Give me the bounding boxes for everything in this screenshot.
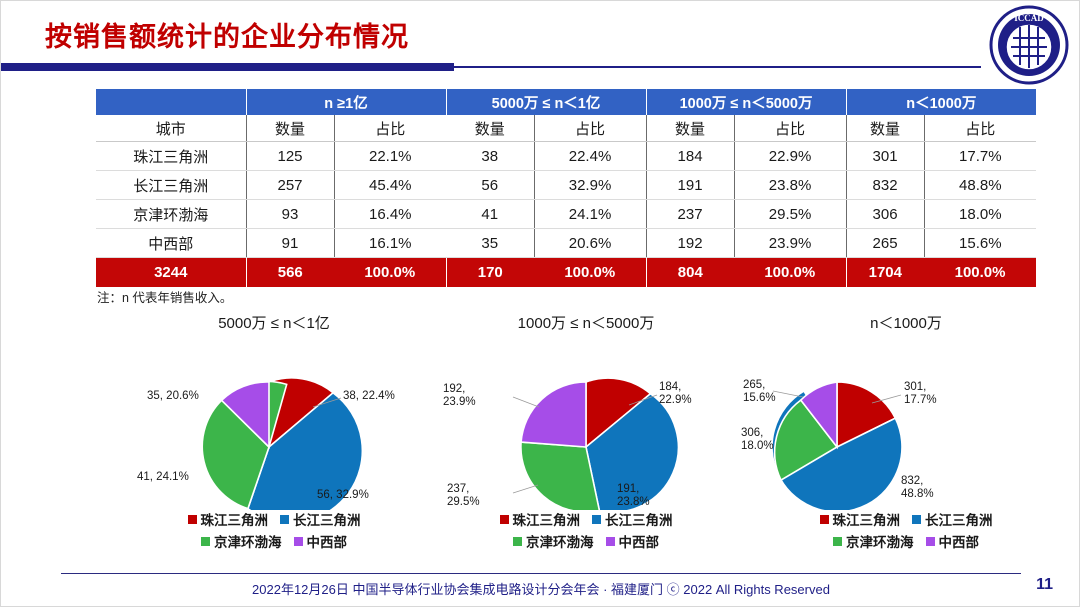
cell-share-2: 24.1% xyxy=(534,200,646,229)
group-header-1000w-5000w: 1000万 ≤ n＜5000万 xyxy=(646,89,846,115)
legend-label: 珠江三角洲 xyxy=(201,509,269,529)
table-total-row: 3244 566 100.0% 170 100.0% 804 100.0% 17… xyxy=(96,258,1036,288)
pie-area: 184, 22.9% 191, 23.8% 237, 29.5% 192, 23… xyxy=(421,335,751,510)
pie-label-zhongxibu: 192, 23.9% xyxy=(443,383,476,409)
pie-chart-5000w-1yi: 5000万 ≤ n＜1亿 38, 22.4% 56, 32.9% 41, 24.… xyxy=(109,313,439,573)
legend-swatch-purple xyxy=(606,537,615,546)
chart-legend: 珠江三角洲 长江三角洲 京津环渤海 中西部 xyxy=(741,509,1071,551)
pie-label-line1: 192, xyxy=(443,383,465,395)
legend-item-zhongxibu[interactable]: 中西部 xyxy=(294,531,348,551)
chart-legend: 珠江三角洲 长江三角洲 京津环渤海 中西部 xyxy=(109,509,439,551)
pie-label-zhujiang: 38, 22.4% xyxy=(343,390,395,403)
group-header-blank xyxy=(96,89,246,115)
legend-label: 中西部 xyxy=(307,531,348,551)
chart-title: 1000万 ≤ n＜5000万 xyxy=(421,313,751,335)
pie-chart-lt-1000w: n＜1000万 301, 17.7% 832, 48.8% xyxy=(741,313,1071,573)
pie-label-line1: 832, xyxy=(901,475,923,487)
cell-count-1: 125 xyxy=(246,142,334,171)
legend-swatch-purple xyxy=(926,537,935,546)
pie-slices xyxy=(521,378,678,510)
legend-label: 京津环渤海 xyxy=(526,531,594,551)
legend-item-changjiang[interactable]: 长江三角洲 xyxy=(280,509,361,529)
pie-label-line1: 191, xyxy=(617,483,639,495)
pie-label-line1: 301, xyxy=(904,381,926,393)
legend-item-zhongxibu[interactable]: 中西部 xyxy=(926,531,980,551)
group-header-lt-1000w: n＜1000万 xyxy=(846,89,1036,115)
pie-label-line1: 265, xyxy=(743,379,765,391)
pie-label-line1: 237, xyxy=(447,483,469,495)
legend-label: 长江三角洲 xyxy=(925,509,993,529)
legend-item-changjiang[interactable]: 长江三角洲 xyxy=(912,509,993,529)
legend-swatch-red xyxy=(500,515,509,524)
pie-label-changjiang: 56, 32.9% xyxy=(317,489,369,502)
cell-count-3: 192 xyxy=(646,229,734,258)
page-number: 11 xyxy=(1036,576,1053,594)
cell-share-4: 17.7% xyxy=(924,142,1036,171)
pie-label-zhujiang: 184, 22.9% xyxy=(659,381,692,407)
cell-share-3: 23.9% xyxy=(734,229,846,258)
table-sub-header-row: 城市 数量 占比 数量 占比 数量 占比 数量 占比 xyxy=(96,115,1036,142)
pie-slices xyxy=(772,382,902,510)
footer-divider xyxy=(61,573,1021,574)
pie-label-line1: 306, xyxy=(741,427,763,439)
cell-count-1: 93 xyxy=(246,200,334,229)
cell-count-1: 91 xyxy=(246,229,334,258)
pie-label-line2: 17.7% xyxy=(904,394,937,406)
pie-label-jingjin: 237, 29.5% xyxy=(447,483,480,509)
pie-label-line2: 15.6% xyxy=(743,392,776,404)
legend-swatch-purple xyxy=(294,537,303,546)
total-overall: 3244 xyxy=(96,258,246,288)
col-header-share-4: 占比 xyxy=(924,115,1036,142)
cell-city: 长江三角洲 xyxy=(96,171,246,200)
col-header-city: 城市 xyxy=(96,115,246,142)
group-header-5000w-1yi: 5000万 ≤ n＜1亿 xyxy=(446,89,646,115)
legend-item-changjiang[interactable]: 长江三角洲 xyxy=(592,509,673,529)
legend-label: 中西部 xyxy=(939,531,980,551)
legend-swatch-red xyxy=(188,515,197,524)
cell-share-3: 29.5% xyxy=(734,200,846,229)
cell-count-4: 265 xyxy=(846,229,924,258)
cell-count-3: 184 xyxy=(646,142,734,171)
pie-area: 301, 17.7% 832, 48.8% 306, 18.0% 265, 15… xyxy=(741,335,1071,510)
col-header-count-4: 数量 xyxy=(846,115,924,142)
enterprise-distribution-table: n ≥1亿 5000万 ≤ n＜1亿 1000万 ≤ n＜5000万 n＜100… xyxy=(96,89,986,287)
legend-label: 京津环渤海 xyxy=(846,531,914,551)
legend-item-jingjin[interactable]: 京津环渤海 xyxy=(513,531,594,551)
pie-label-line2: 48.8% xyxy=(901,488,934,500)
cell-share-3: 23.8% xyxy=(734,171,846,200)
table-group-header-row: n ≥1亿 5000万 ≤ n＜1亿 1000万 ≤ n＜5000万 n＜100… xyxy=(96,89,1036,115)
group-header-n-ge-1yi: n ≥1亿 xyxy=(246,89,446,115)
pie-label-zhujiang: 301, 17.7% xyxy=(904,381,937,407)
table-row: 京津环渤海 93 16.4% 41 24.1% 237 29.5% 306 18… xyxy=(96,200,1036,229)
pie-label-changjiang: 832, 48.8% xyxy=(901,475,934,501)
footer-text: 2022年12月26日 中国半导体行业协会集成电路设计分会年会 · 福建厦门 ⓒ… xyxy=(1,579,1080,598)
total-share-1: 100.0% xyxy=(334,258,446,288)
cell-share-4: 48.8% xyxy=(924,171,1036,200)
table-note: 注：n 代表年销售收入。 xyxy=(97,287,232,306)
cell-count-1: 257 xyxy=(246,171,334,200)
pie-label-line2: 18.0% xyxy=(741,440,774,452)
col-header-count-2: 数量 xyxy=(446,115,534,142)
cell-count-4: 306 xyxy=(846,200,924,229)
cell-count-3: 237 xyxy=(646,200,734,229)
cell-count-4: 301 xyxy=(846,142,924,171)
cell-share-1: 16.4% xyxy=(334,200,446,229)
pie-label-jingjin: 41, 24.1% xyxy=(137,471,189,484)
legend-item-zhongxibu[interactable]: 中西部 xyxy=(606,531,660,551)
legend-swatch-blue xyxy=(912,515,921,524)
legend-label: 中西部 xyxy=(619,531,660,551)
table-row: 长江三角洲 257 45.4% 56 32.9% 191 23.8% 832 4… xyxy=(96,171,1036,200)
total-share-3: 100.0% xyxy=(734,258,846,288)
slice-zhongxibu[interactable] xyxy=(521,382,586,447)
pie-label-zhongxibu: 265, 15.6% xyxy=(743,379,776,405)
pie-label-line2: 23.9% xyxy=(443,396,476,408)
pie-label-line2: 23.8% xyxy=(617,496,650,508)
cell-count-2: 38 xyxy=(446,142,534,171)
cell-count-4: 832 xyxy=(846,171,924,200)
legend-item-jingjin[interactable]: 京津环渤海 xyxy=(201,531,282,551)
total-count-4: 1704 xyxy=(846,258,924,288)
chart-title: n＜1000万 xyxy=(741,313,1071,335)
cell-share-1: 22.1% xyxy=(334,142,446,171)
pie-chart-1000w-5000w: 1000万 ≤ n＜5000万 184, 22.9% xyxy=(421,313,751,573)
col-header-share-3: 占比 xyxy=(734,115,846,142)
legend-swatch-blue xyxy=(280,515,289,524)
cell-share-2: 22.4% xyxy=(534,142,646,171)
col-header-count-1: 数量 xyxy=(246,115,334,142)
col-header-share-1: 占比 xyxy=(334,115,446,142)
total-count-1: 566 xyxy=(246,258,334,288)
legend-swatch-green xyxy=(833,537,842,546)
iccad-logo: ICCAD xyxy=(989,5,1069,85)
cell-count-3: 191 xyxy=(646,171,734,200)
table-row: 珠江三角洲 125 22.1% 38 22.4% 184 22.9% 301 1… xyxy=(96,142,1036,171)
title-underline-bar xyxy=(1,63,454,71)
legend-label: 长江三角洲 xyxy=(605,509,673,529)
chart-legend: 珠江三角洲 长江三角洲 京津环渤海 中西部 xyxy=(421,509,751,551)
cell-count-2: 35 xyxy=(446,229,534,258)
cell-share-1: 16.1% xyxy=(334,229,446,258)
cell-city: 中西部 xyxy=(96,229,246,258)
legend-swatch-green xyxy=(513,537,522,546)
legend-label: 珠江三角洲 xyxy=(833,509,901,529)
slice-jingjin[interactable] xyxy=(521,442,599,510)
cell-share-2: 20.6% xyxy=(534,229,646,258)
pie-label-jingjin: 306, 18.0% xyxy=(741,427,774,453)
col-header-share-2: 占比 xyxy=(534,115,646,142)
cell-share-4: 15.6% xyxy=(924,229,1036,258)
total-share-4: 100.0% xyxy=(924,258,1036,288)
legend-item-zhujiang[interactable]: 珠江三角洲 xyxy=(500,509,581,529)
pie-label-changjiang: 191, 23.8% xyxy=(617,483,650,509)
cell-count-2: 56 xyxy=(446,171,534,200)
legend-item-jingjin[interactable]: 京津环渤海 xyxy=(833,531,914,551)
cell-share-3: 22.9% xyxy=(734,142,846,171)
total-count-3: 804 xyxy=(646,258,734,288)
page-title: 按销售额统计的企业分布情况 xyxy=(45,15,409,54)
legend-swatch-blue xyxy=(592,515,601,524)
legend-item-zhujiang[interactable]: 珠江三角洲 xyxy=(820,509,901,529)
legend-label: 长江三角洲 xyxy=(293,509,361,529)
cell-share-1: 45.4% xyxy=(334,171,446,200)
title-underline-rule xyxy=(454,66,981,68)
legend-swatch-green xyxy=(201,537,210,546)
legend-swatch-red xyxy=(820,515,829,524)
cell-city: 京津环渤海 xyxy=(96,200,246,229)
cell-city: 珠江三角洲 xyxy=(96,142,246,171)
total-share-2: 100.0% xyxy=(534,258,646,288)
pie-label-zhongxibu: 35, 20.6% xyxy=(147,390,199,403)
cell-share-4: 18.0% xyxy=(924,200,1036,229)
pie-label-line2: 22.9% xyxy=(659,394,692,406)
pie-label-line2: 29.5% xyxy=(447,496,480,508)
chart-title: 5000万 ≤ n＜1亿 xyxy=(109,313,439,335)
cell-count-2: 41 xyxy=(446,200,534,229)
col-header-count-3: 数量 xyxy=(646,115,734,142)
legend-label: 京津环渤海 xyxy=(214,531,282,551)
legend-item-zhujiang[interactable]: 珠江三角洲 xyxy=(188,509,269,529)
cell-share-2: 32.9% xyxy=(534,171,646,200)
total-count-2: 170 xyxy=(446,258,534,288)
svg-text:ICCAD: ICCAD xyxy=(1014,13,1044,23)
legend-label: 珠江三角洲 xyxy=(513,509,581,529)
pie-label-line1: 184, xyxy=(659,381,681,393)
table-row: 中西部 91 16.1% 35 20.6% 192 23.9% 265 15.6… xyxy=(96,229,1036,258)
pie-area: 38, 22.4% 56, 32.9% 41, 24.1% 35, 20.6% xyxy=(109,335,439,510)
